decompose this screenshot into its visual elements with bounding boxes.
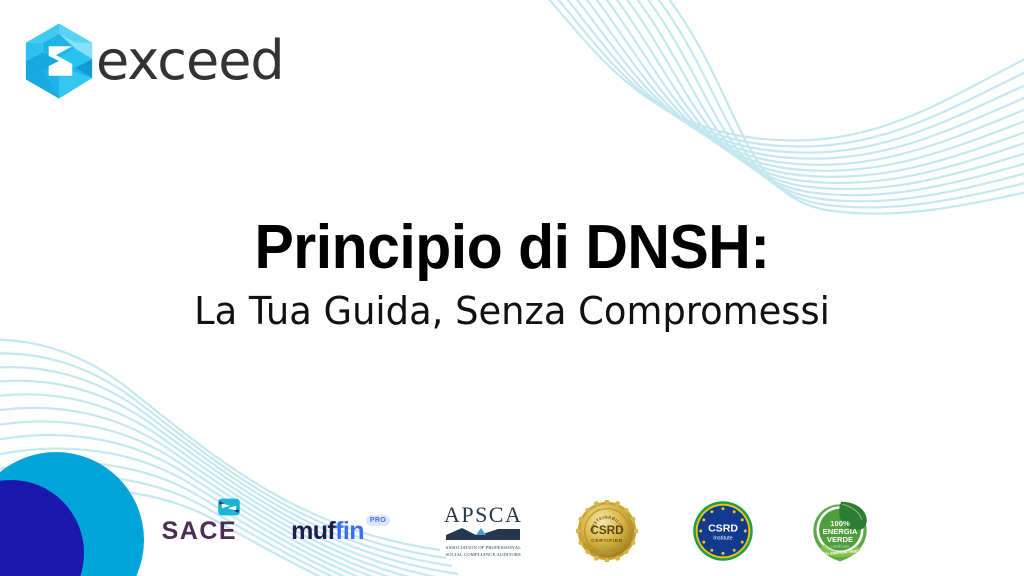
csrd-certified-seal-icon: SUSTAINABILITY CSRD CERTIFIED: [576, 500, 638, 562]
exceed-hexagon-icon: [22, 22, 96, 100]
apsca-subtitle-line2: SOCIAL COMPLIANCE AUDITORS: [444, 552, 522, 558]
logo-apsca: APSCA ASSOCIATION OF PROFESSIONAL SOCIAL…: [444, 504, 522, 557]
logo-muffin: muffin PRO: [291, 519, 390, 544]
muffin-word-prefix: muf: [291, 517, 335, 545]
logo-sace: SACE: [162, 519, 237, 544]
presentation-slide: exceed Principio di DNSH: La Tua Guida, …: [0, 0, 1024, 576]
logo-csrd-certified: SUSTAINABILITY CSRD CERTIFIED: [576, 500, 638, 562]
apsca-subtitle-line1: ASSOCIATION OF PROFESSIONAL: [444, 545, 522, 551]
csrd-institute-badge-icon: CSRD Institute: [692, 500, 754, 562]
svg-text:CERTIFIED: CERTIFIED: [592, 538, 624, 544]
apsca-mountain-icon: [446, 528, 520, 542]
slide-subtitle: La Tua Guida, Senza Compromessi: [15, 289, 1008, 335]
brand-wordmark: exceed: [96, 34, 284, 88]
svg-text:VERDE: VERDE: [827, 535, 853, 544]
svg-text:CSRD: CSRD: [708, 523, 738, 535]
partner-logo-strip: SACE muffin PRO APSCA: [0, 492, 1024, 570]
sace-wordmark: SACE: [162, 519, 237, 544]
slide-title: Principio di DNSH:: [26, 216, 999, 279]
apsca-wordmark: APSCA: [444, 504, 522, 526]
muffin-word-accent: fin: [335, 517, 364, 545]
sace-mark-icon: [217, 497, 241, 517]
svg-text:CSRD: CSRD: [591, 524, 624, 537]
svg-text:Institute: Institute: [714, 536, 734, 542]
brand-logo: exceed: [22, 22, 284, 100]
headline-block: Principio di DNSH: La Tua Guida, Senza C…: [0, 216, 1024, 335]
logo-energia-verde: 100% ENERGIA VERDE certificato 100% ENER…: [808, 498, 872, 564]
svg-text:certificato: certificato: [831, 544, 850, 549]
logo-csrd-institute: CSRD Institute: [692, 500, 754, 562]
muffin-pro-badge: PRO: [366, 515, 390, 526]
energia-verde-badge-icon: 100% ENERGIA VERDE certificato 100% ENER…: [808, 498, 872, 564]
muffin-wordmark: muffin: [291, 519, 364, 544]
